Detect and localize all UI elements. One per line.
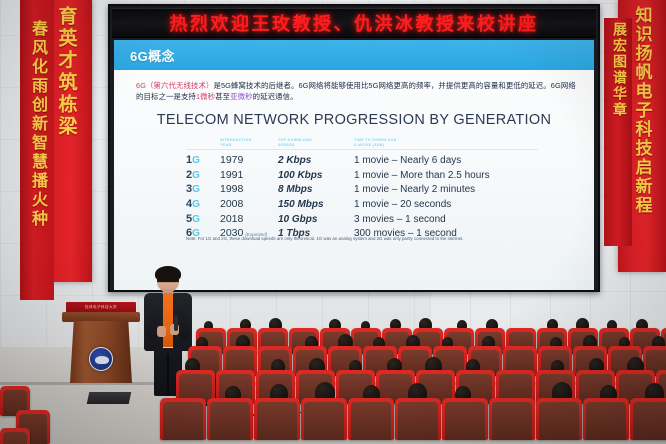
led-welcome-marquee: 热烈欢迎王玫教授、仇洪冰教授来校讲座 (112, 8, 596, 38)
slide-body-paragraph: 6G（第六代无线技术）是5G蜂窝技术的后继者。6G网络将能够使用比5G网络更高的… (136, 80, 576, 103)
cell-speed: 8 Mbps (278, 184, 354, 195)
cell-download-time: 3 movies – 1 second (354, 214, 538, 225)
seat-back-panel (163, 402, 203, 440)
audience-seating (0, 324, 666, 444)
slide-title: 6G概念 (130, 46, 175, 65)
table-title: TELECOM NETWORK PROGRESSION BY GENERATIO… (114, 112, 594, 128)
presenter-hair (155, 266, 181, 282)
table-footnote: Note: For 1G and 2G, these download spee… (186, 236, 516, 242)
cell-speed: 150 Mbps (278, 199, 354, 210)
banner-right-column-b: 知识扬帆电子科技启新程 (630, 6, 655, 272)
seat-back-panel (586, 402, 626, 440)
paragraph-text-tail: 的延迟通信。 (253, 92, 298, 101)
podium-top-surface (62, 312, 140, 322)
table-row: 2G1991100 Kbps1 movie – More than 2.5 ho… (186, 165, 538, 180)
audience-seat (442, 398, 488, 440)
seat-back-panel (210, 402, 250, 440)
table-header-generation (186, 138, 220, 147)
banner-right-column-a: 展宏图谱华章 (608, 22, 628, 246)
cell-speed: 100 Kbps (278, 170, 354, 181)
cell-download-time: 1 movie – More than 2.5 hours (354, 170, 538, 181)
banner-right-secondary: 展宏图谱华章 (604, 18, 632, 246)
table-row: 1G19792 Kbps1 movie – Nearly 6 days (186, 150, 538, 165)
banner-left-column-b: 春风化雨创新智慧播火种 (25, 20, 49, 300)
paragraph-highlight-term: 6G（第六代无线技术） (136, 81, 213, 90)
seat-back-panel (492, 402, 532, 440)
paragraph-highlight-sublatency: 亚微秒 (230, 92, 252, 101)
seat-back-panel (351, 402, 391, 440)
audience-seat (348, 398, 394, 440)
seat-back-panel (398, 402, 438, 440)
audience-seat (0, 428, 30, 444)
audience-seat (254, 398, 300, 440)
table-header-introduction-year: INTRODUCTION YEAR (220, 138, 278, 147)
paragraph-text-join: 甚至 (215, 92, 230, 101)
banner-left-secondary: 春风化雨创新智慧播火种 (20, 0, 54, 300)
lecture-hall-photo: 6G概念 6G（第六代无线技术）是5G蜂窝技术的后继者。6G网络将能够使用比5G… (0, 0, 666, 444)
paragraph-highlight-latency: 1微秒 (196, 92, 215, 101)
cell-download-time: 1 movie – Nearly 2 minutes (354, 184, 538, 195)
presentation-slide: 6G概念 6G（第六代无线技术）是5G蜂窝技术的后继者。6G网络将能够使用比5G… (114, 40, 594, 290)
banner-left-column-a: 育英才筑栋梁 (53, 6, 80, 282)
audience-seat (207, 398, 253, 440)
seat-back-panel (304, 402, 344, 440)
table-row: 4G2008150 Mbps1 movie – 20 seconds (186, 194, 538, 209)
audience-seat (583, 398, 629, 440)
audience-seat (160, 398, 206, 440)
slide-title-bar (114, 40, 594, 70)
audience-seat (301, 398, 347, 440)
seat-back-panel (445, 402, 485, 440)
seat-back-panel (539, 402, 579, 440)
seat-back-panel (633, 402, 666, 440)
audience-seat (489, 398, 535, 440)
seat-back-panel (3, 432, 27, 444)
table-header-time-to-download: TIME TO DOWNLOAD A MOVIE (3GB) (354, 138, 538, 147)
generation-table: INTRODUCTION YEAR TOP DOWNLOAD SPEEDS TI… (186, 138, 538, 238)
audience-seat (395, 398, 441, 440)
table-row: 3G19988 Mbps1 movie – Nearly 2 minutes (186, 179, 538, 194)
cell-speed: 10 Gbps (278, 214, 354, 225)
table-row: 5G201810 Gbps3 movies – 1 second (186, 209, 538, 224)
table-body: 1G19792 Kbps1 movie – Nearly 6 days2G199… (186, 150, 538, 238)
led-marquee-text: 热烈欢迎王玫教授、仇洪冰教授来校讲座 (170, 10, 539, 36)
seat-back-panel (257, 402, 297, 440)
table-header-top-download-speeds: TOP DOWNLOAD SPEEDS (278, 138, 354, 147)
cell-speed: 2 Kbps (278, 155, 354, 166)
cell-download-time: 1 movie – 20 seconds (354, 199, 538, 210)
table-header-row: INTRODUCTION YEAR TOP DOWNLOAD SPEEDS TI… (186, 138, 538, 150)
audience-seat (630, 398, 666, 440)
audience-seat (536, 398, 582, 440)
cell-download-time: 1 movie – Nearly 6 days (354, 155, 538, 166)
